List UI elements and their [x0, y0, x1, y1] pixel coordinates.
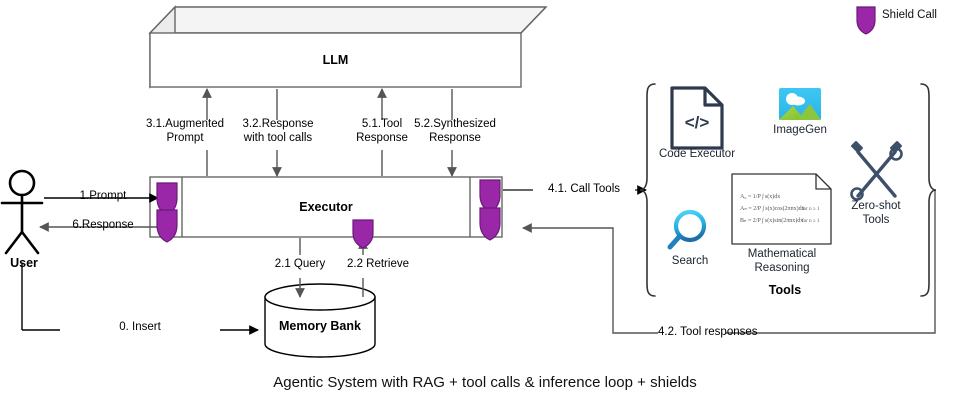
edge-label-synthesized-response-line2: Response [429, 132, 481, 144]
diagram-canvas: </> A₀ = 1/P ∫ s(x)dx Aₙ = 2/P ∫ s(x)cos… [0, 0, 970, 411]
llm-box [150, 7, 546, 87]
formula-document-icon: A₀ = 1/P ∫ s(x)dx Aₙ = 2/P ∫ s(x)cos(2πn… [732, 174, 831, 244]
tool-label-zeroshot-line2: Tools [863, 214, 890, 226]
user-label: User [0, 256, 48, 270]
edge-label-response-tool-calls-line2: with tool calls [244, 132, 312, 144]
svg-text:Bₙ = 2/P ∫ s(x)sin(2πnx)dx: Bₙ = 2/P ∫ s(x)sin(2πnx)dx [740, 217, 803, 224]
svg-text:A₀ = 1/P ∫ s(x)dx: A₀ = 1/P ∫ s(x)dx [740, 193, 780, 200]
edge-label-augmented-prompt: 3.1.Augmented Prompt [143, 118, 227, 145]
tool-label-zeroshot-line1: Zero-shot [851, 200, 900, 212]
tool-label-code-executor: Code Executor [650, 148, 744, 162]
svg-text:</>: </> [685, 113, 710, 132]
shield-icon-executor-retrieve [353, 220, 373, 248]
tool-label-zero-shot-tools: Zero-shot Tools [838, 200, 914, 227]
user-stick-figure [2, 171, 42, 253]
tool-label-mathematical-reasoning: Mathematical Reasoning [736, 248, 828, 275]
edge-label-response-tool-calls-line1: 3.2.Response [243, 118, 314, 130]
edge-label-augmented-prompt-line1: 3.1.Augmented [146, 118, 224, 130]
memory-bank-label: Memory Bank [265, 319, 375, 333]
edge-label-synthesized-response-line1: 5.2.Synthesized [414, 118, 496, 130]
image-picture-icon [779, 88, 821, 120]
magnifier-icon [670, 212, 704, 247]
tool-label-search: Search [662, 255, 718, 269]
legend-shield-label: Shield Call [882, 9, 937, 21]
svg-text:for n ≥ 1: for n ≥ 1 [802, 219, 820, 224]
edge-label-insert: 0. Insert [60, 321, 220, 335]
tools-left-brace [640, 84, 655, 296]
edge-label-tool-responses: 4.2. Tool responses [658, 326, 726, 340]
llm-label: LLM [150, 53, 521, 67]
svg-text:for n ≥ 1: for n ≥ 1 [802, 207, 820, 212]
edge-label-augmented-prompt-line2: Prompt [166, 132, 203, 144]
edge-label-retrieve: 2.2 Retrieve [330, 258, 426, 272]
edge-label-tool-response-line1: 5.1.Tool [362, 118, 402, 130]
edge-label-prompt: 1.Prompt [48, 190, 158, 204]
diagram-caption: Agentic System with RAG + tool calls & i… [0, 374, 970, 391]
tool-label-math-line1: Mathematical [748, 248, 816, 260]
tools-group-label: Tools [735, 283, 835, 297]
code-document-icon: </> [672, 88, 722, 148]
edge-label-synthesized-response: 5.2.Synthesized Response [410, 118, 500, 145]
executor-label: Executor [182, 200, 470, 214]
svg-text:Aₙ = 2/P ∫ s(x)cos(2πnx)dx: Aₙ = 2/P ∫ s(x)cos(2πnx)dx [740, 205, 805, 212]
tool-label-imagegen: ImageGen [766, 124, 834, 138]
edge-label-response: 6.Response [48, 219, 158, 233]
edge-label-response-tool-calls: 3.2.Response with tool calls [235, 118, 321, 145]
shield-icon-legend [857, 7, 875, 34]
edge-insert [22, 263, 258, 330]
tools-right-brace [921, 84, 936, 296]
crossed-wrenches-icon [852, 142, 902, 200]
tool-label-math-line2: Reasoning [755, 262, 810, 274]
edge-label-call-tools: 4.1. Call Tools [533, 183, 635, 197]
edge-label-tool-response-line2: Response [356, 132, 408, 144]
